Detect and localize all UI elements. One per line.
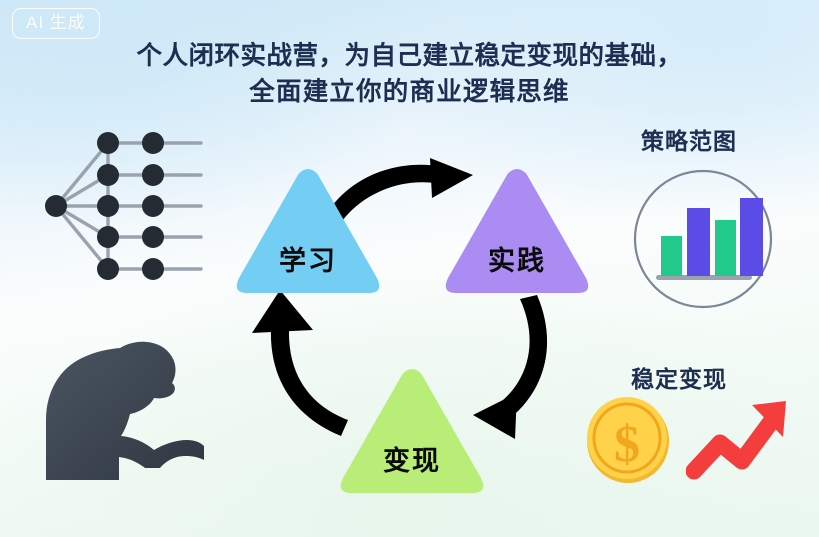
- cycle-node-learn[interactable]: 学习: [232, 166, 384, 300]
- node-network-icon: [38, 126, 218, 286]
- page-title-line-1: 个人闭环实战营，为自己建立稳定变现的基础，: [0, 38, 819, 74]
- growth-arrow-icon: [686, 395, 790, 483]
- dollar-coin-icon: $: [583, 393, 673, 485]
- infographic-canvas: AI 生成 个人闭环实战营，为自己建立稳定变现的基础， 全面建立你的商业逻辑思维: [0, 0, 819, 537]
- income-panel-heading: 稳定变现: [631, 360, 727, 394]
- triangle-shape-practice: [441, 166, 593, 300]
- bar-4: [740, 198, 763, 276]
- bar-chart-circle-icon: [623, 168, 783, 310]
- cycle-node-practice[interactable]: 实践: [441, 166, 593, 300]
- triangle-shape-learn: [232, 166, 384, 300]
- svg-text:$: $: [614, 416, 640, 473]
- person-reading-silhouette-icon: [24, 336, 234, 516]
- cycle-node-practice-label: 实践: [441, 239, 593, 278]
- page-title: 个人闭环实战营，为自己建立稳定变现的基础， 全面建立你的商业逻辑思维: [0, 38, 819, 110]
- page-title-line-2: 全面建立你的商业逻辑思维: [0, 74, 819, 110]
- bar-1: [661, 236, 682, 276]
- cycle-node-learn-label: 学习: [232, 239, 384, 278]
- cycle-node-monetize[interactable]: 变现: [336, 366, 488, 500]
- bar-2: [687, 208, 710, 276]
- ai-generated-badge: AI 生成: [12, 8, 100, 39]
- triangle-shape-monetize: [336, 366, 488, 500]
- bar-3: [715, 220, 736, 276]
- strategy-panel-heading: 策略范图: [641, 122, 737, 156]
- bar-chart-bars: [661, 198, 763, 276]
- cycle-node-monetize-label: 变现: [336, 439, 488, 478]
